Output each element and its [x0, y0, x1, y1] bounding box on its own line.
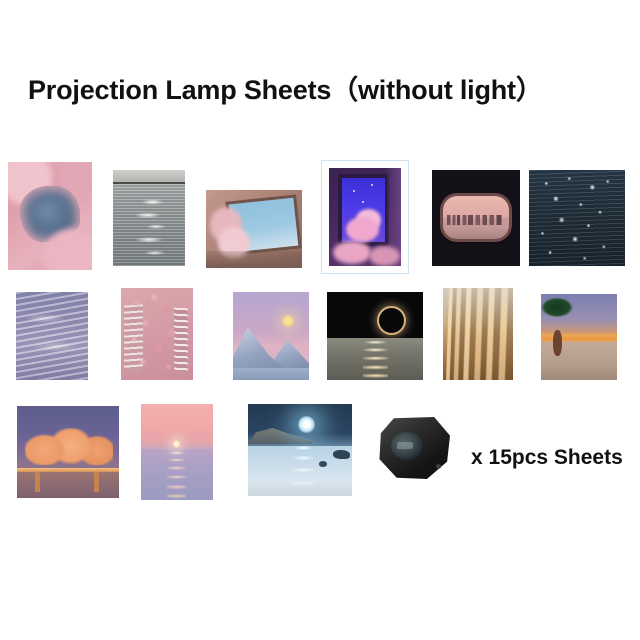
water-sparkle	[529, 170, 625, 266]
sheet-blue-moonlight-seascape[interactable]	[248, 404, 352, 496]
sheet-cherry-blossom-buildings[interactable]	[121, 288, 193, 380]
sheet-artwork	[121, 288, 193, 380]
lamp-lens-highlight	[397, 442, 413, 449]
sheet-artwork	[529, 170, 625, 266]
eclipse-ring-icon	[377, 306, 406, 335]
sheet-artwork	[327, 292, 423, 380]
lake-band	[233, 368, 309, 380]
sheet-dark-navy-sparkling-sea[interactable]	[529, 170, 625, 266]
light-reflection-path	[292, 446, 315, 496]
water-sparkle	[113, 184, 185, 266]
window-frame-beam	[206, 251, 302, 268]
sheet-artwork	[16, 292, 88, 380]
bridge-pier	[94, 472, 99, 492]
sheet-artwork	[248, 404, 352, 496]
sheet-airplane-window-city-skyline[interactable]	[432, 170, 520, 266]
sheet-moon-over-snowy-mountains[interactable]	[233, 292, 309, 380]
wave-texture	[16, 292, 88, 380]
sheet-artwork	[329, 168, 401, 266]
bay-water	[17, 472, 119, 498]
sheet-bridge-with-sunset-clouds[interactable]	[17, 406, 119, 498]
bridge-pier	[35, 472, 40, 492]
sun-icon	[173, 440, 180, 447]
sheet-artwork	[233, 292, 309, 380]
sheet-artwork	[443, 288, 513, 380]
city-skyline	[447, 215, 506, 225]
rock-formation	[319, 461, 327, 467]
sheet-eclipse-over-water[interactable]	[327, 292, 423, 380]
product-image-canvas: Projection Lamp Sheets（without light）	[0, 0, 640, 640]
sheet-artwork	[17, 406, 119, 498]
light-reflection-path	[167, 450, 186, 500]
sheet-artwork	[113, 170, 185, 266]
moon-icon	[298, 416, 315, 433]
sheet-silver-sparkling-ocean[interactable]	[113, 170, 185, 266]
sheet-artwork	[141, 404, 213, 500]
sheet-window-pane-with-pink-clouds[interactable]	[206, 190, 302, 268]
star-icon	[371, 184, 373, 186]
sheet-artwork	[8, 162, 92, 270]
sheet-artwork	[432, 170, 520, 266]
sheet-pink-sunset-over-sea[interactable]	[141, 404, 213, 500]
night-sky	[327, 292, 423, 338]
sunset-cloud	[25, 428, 113, 465]
page-title: Projection Lamp Sheets（without light）	[28, 68, 543, 107]
pack-count-label: x 15pcs Sheets	[471, 446, 623, 470]
sheet-purple-window-pink-clouds[interactable]	[329, 168, 401, 266]
projector-lamp-icon	[378, 417, 450, 479]
sheet-pink-clouds-blue-sky-opening[interactable]	[8, 162, 92, 270]
sheet-artwork	[206, 190, 302, 268]
sheet-golden-sunlit-curtains[interactable]	[443, 288, 513, 380]
moon-icon	[282, 315, 294, 327]
light-reflection-path	[363, 340, 388, 379]
sheet-palm-tree-beach-sunset[interactable]	[541, 294, 617, 380]
sunlight-glow	[443, 288, 513, 330]
sheet-artwork	[541, 294, 617, 380]
airplane-window	[443, 196, 508, 239]
water-band	[443, 226, 508, 239]
blossom-cluster	[121, 288, 193, 380]
cloud-puff-icon	[333, 241, 370, 265]
sheet-lavender-ocean-waves[interactable]	[16, 292, 88, 380]
bridge-deck	[17, 468, 119, 473]
rock-formation	[333, 450, 350, 459]
cloud-puff-icon	[369, 246, 399, 266]
palm-trunk	[553, 330, 561, 356]
lamp-button	[436, 464, 441, 469]
palm-fronds-icon	[541, 294, 584, 330]
